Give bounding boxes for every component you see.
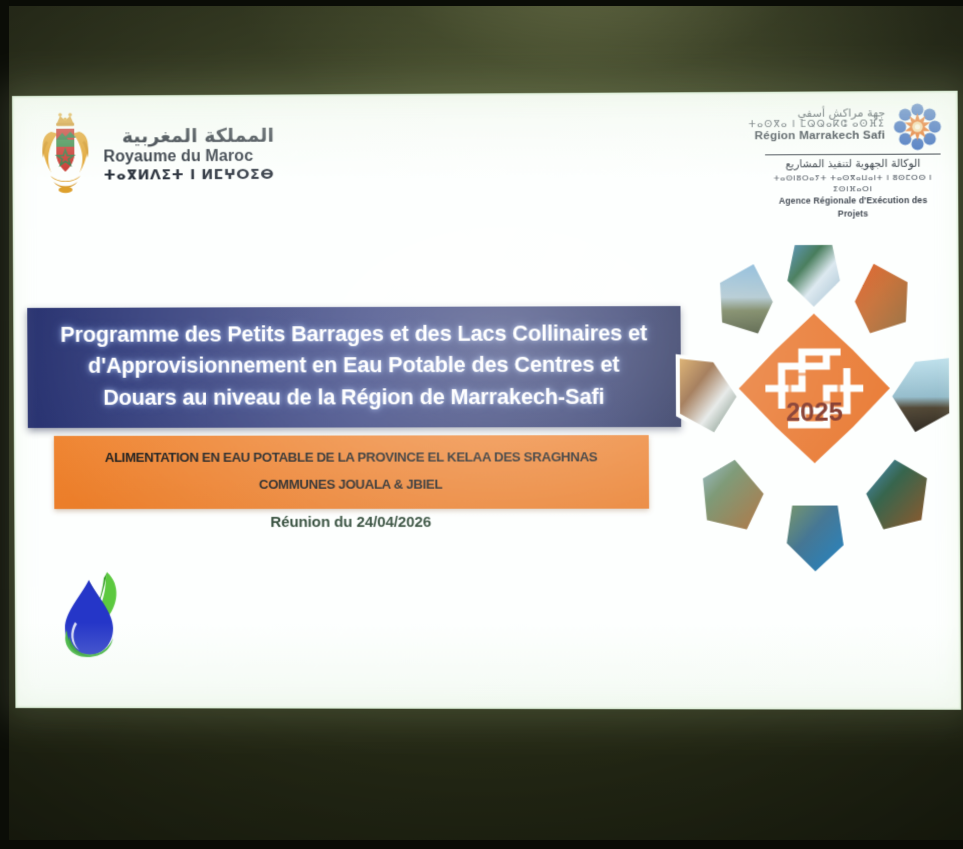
agency-french: Agence Régionale d'Exécution des Projets xyxy=(765,194,941,220)
projected-slide: المملكة المغربية Royaume du Maroc ⵜⴰⴳⵍⴷⵉ… xyxy=(12,91,961,710)
agency-block: الوكالة الجهوية لتنفيذ المشاريع ⵜⴰⵙⵏⵓⵔⴰⵢ… xyxy=(765,154,941,221)
slide-title-band: Programme des Petits Barrages et des Lac… xyxy=(27,306,681,428)
slide-subtitle-band: ALIMENTATION EN EAU POTABLE DE LA PROVIN… xyxy=(54,435,649,509)
meeting-date-label: Réunion du 24/04/2026 xyxy=(54,514,649,531)
collage-petal-top-left xyxy=(718,261,775,336)
photo-top-border xyxy=(0,0,963,6)
collage-petal-bottom-left xyxy=(701,457,767,532)
kingdom-of-morocco-header: المملكة المغربية Royaume du Maroc ⵜⴰⴳⵍⴷⵉ… xyxy=(36,109,274,196)
photo-left-border xyxy=(0,0,9,849)
kingdom-arabic: المملكة المغربية xyxy=(103,127,274,148)
water-drop-leaf-logo-icon xyxy=(45,564,140,664)
agency-tifinagh: ⵜⴰⵙⵏⵓⵔⴰⵢⵜ ⵜⴰⵙⴳⴰⵡⴰⵏⵜ ⵏ ⵓⵙⵎⵔⵙ ⵏ ⵉⵙⵏⴼⴰⵔⵏ xyxy=(765,171,941,195)
collage-year-label: 2025 xyxy=(786,398,843,426)
subtitle-line-2: COMMUNES JOUALA & JBIEL xyxy=(60,470,643,498)
kingdom-french: Royaume du Maroc xyxy=(103,148,274,167)
region-text-block: جهة مراكش أسفي ⵜⴰⵙⴳⴰ ⵏ ⵎⵕⵕⴰⴽⵛ ⴰⵙⴼⵉ Régio… xyxy=(749,101,886,142)
agency-divider xyxy=(765,154,941,156)
region-tifinagh: ⵜⴰⵙⴳⴰ ⵏ ⵎⵕⵕⴰⴽⵛ ⴰⵙⴼⵉ xyxy=(749,119,886,130)
region-marrakech-safi-header: جهة مراكش أسفي ⵜⴰⵙⴳⴰ ⵏ ⵎⵕⵕⴰⴽⵛ ⴰⵙⴼⵉ Régio… xyxy=(749,101,942,151)
photo-bottom-border xyxy=(0,840,963,849)
title-line-2: d'Approvisionnement en Eau Potable des C… xyxy=(37,350,670,383)
collage-petal-right xyxy=(890,356,952,435)
title-line-3: Douars au niveau de la Région de Marrake… xyxy=(38,381,671,414)
collage-petal-bottom xyxy=(784,504,846,575)
title-line-1: Programme des Petits Barrages et des Lac… xyxy=(37,318,670,351)
kingdom-text-block: المملكة المغربية Royaume du Maroc ⵜⴰⴳⵍⴷⵉ… xyxy=(103,121,274,184)
subtitle-line-1: ALIMENTATION EN EAU POTABLE DE LA PROVIN… xyxy=(60,443,643,471)
region-marrakech-safi-rosette-icon xyxy=(893,103,941,151)
slide-canvas: المملكة المغربية Royaume du Maroc ⵜⴰⴳⵍⴷⵉ… xyxy=(12,91,961,710)
collage-petal-top-right xyxy=(852,261,910,336)
projection-room-photo: المملكة المغربية Royaume du Maroc ⵜⴰⴳⵍⴷⵉ… xyxy=(0,0,963,849)
collage-petal-bottom-right xyxy=(864,457,930,532)
region-arabic: جهة مراكش أسفي xyxy=(749,106,886,120)
moroccan-coat-of-arms-icon xyxy=(36,110,95,196)
collage-petal-top xyxy=(785,243,842,310)
region-french: Région Marrakech Safi xyxy=(749,130,886,143)
marrakech-safi-photo-flower-collage: 2025 xyxy=(673,236,956,580)
collage-petal-left xyxy=(678,356,739,435)
kingdom-tifinagh: ⵜⴰⴳⵍⴷⵉⵜ ⵏ ⵍⵎⵖⵔⵉⴱ xyxy=(103,167,274,184)
agency-arabic: الوكالة الجهوية لتنفيذ المشاريع xyxy=(765,158,941,173)
